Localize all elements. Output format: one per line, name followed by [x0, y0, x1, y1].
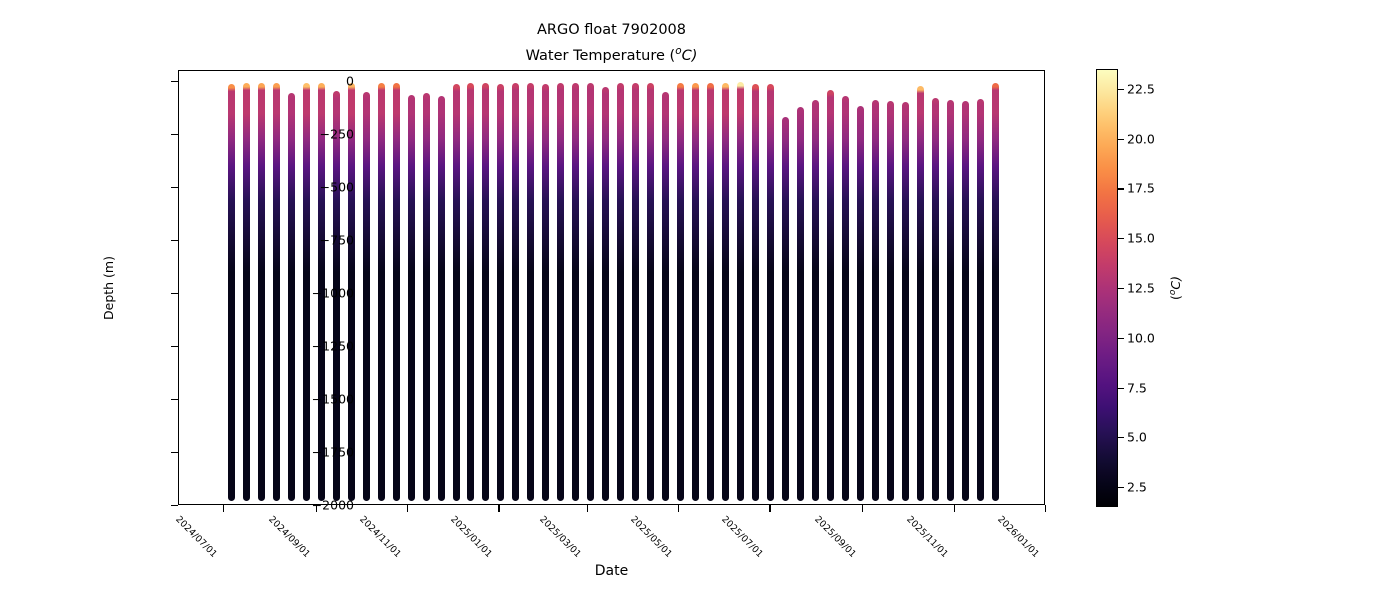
- x-tick-mark: [1045, 505, 1046, 512]
- y-tick-label: −1000: [312, 285, 354, 300]
- y-tick-mark: [171, 81, 178, 82]
- colorbar-tick-label: 15.0: [1127, 231, 1155, 246]
- x-tick-label: 2025/11/01: [904, 514, 950, 560]
- y-axis-label: Depth (m): [101, 168, 116, 408]
- temperature-profile: [842, 96, 849, 500]
- figure-title-line1: ARGO float 7902008: [178, 20, 1045, 41]
- temperature-profile: [587, 83, 594, 500]
- y-tick-label: −250: [320, 126, 354, 141]
- temperature-profile: [303, 83, 310, 501]
- colorbar-tick-label: 20.0: [1127, 131, 1155, 146]
- temperature-profile: [872, 100, 879, 500]
- y-tick-mark: [171, 346, 178, 347]
- temperature-profile: [992, 83, 999, 500]
- y-tick-label: −1250: [312, 338, 354, 353]
- colorbar-label: (oC): [1168, 208, 1183, 368]
- temperature-profile: [438, 96, 445, 500]
- temperature-profile: [363, 92, 370, 500]
- temperature-profile: [632, 83, 639, 500]
- temperature-profile: [752, 84, 759, 501]
- temperature-profile: [378, 83, 385, 500]
- x-tick-label: 2025/07/01: [720, 514, 766, 560]
- temperature-profile: [692, 83, 699, 501]
- colorbar-tick-mark: [1118, 288, 1124, 289]
- colorbar-label-prefix: (: [1168, 295, 1183, 300]
- colorbar-tick-label: 7.5: [1127, 380, 1147, 395]
- plot-area: [178, 70, 1045, 505]
- colorbar-tick-mark: [1118, 487, 1124, 488]
- temperature-profile: [423, 93, 430, 500]
- colorbar-tick-mark: [1118, 188, 1124, 189]
- temperature-profile: [467, 83, 474, 500]
- temperature-profile: [453, 84, 460, 501]
- y-tick-mark: [171, 134, 178, 135]
- y-tick-mark: [171, 240, 178, 241]
- colorbar-tick-mark: [1118, 139, 1124, 140]
- colorbar-tick-mark: [1118, 238, 1124, 239]
- temperature-profile: [767, 84, 774, 501]
- x-tick-mark: [862, 505, 863, 512]
- x-tick-label: 2025/01/01: [449, 514, 495, 560]
- x-tick-mark: [954, 505, 955, 512]
- temperature-profile: [602, 87, 609, 501]
- x-tick-mark: [223, 505, 224, 512]
- temperature-profile: [917, 86, 924, 500]
- temperature-profile: [827, 90, 834, 501]
- temperature-profile: [947, 100, 954, 501]
- x-tick-mark: [678, 505, 679, 512]
- y-tick-label: 0: [346, 73, 354, 88]
- temperature-profile: [677, 83, 684, 501]
- colorbar-tick-mark: [1118, 437, 1124, 438]
- x-tick-label: 2025/03/01: [537, 514, 583, 560]
- temperature-profile: [393, 83, 400, 501]
- temperature-profile: [288, 93, 295, 500]
- x-tick-mark: [769, 505, 770, 512]
- x-tick-label: 2025/05/01: [628, 514, 674, 560]
- temperature-profile: [512, 83, 519, 500]
- temperature-profile: [647, 83, 654, 501]
- temperature-profile: [527, 83, 534, 501]
- temperature-profile: [782, 117, 789, 501]
- colorbar-label-suffix: C): [1168, 276, 1183, 290]
- figure-canvas: ARGO float 7902008 Water Temperature (oC…: [0, 0, 1400, 600]
- temperature-profile: [497, 84, 504, 501]
- y-tick-label: −1500: [312, 391, 354, 406]
- x-tick-label: 2026/01/01: [995, 514, 1041, 560]
- x-tick-label: 2024/07/01: [173, 514, 219, 560]
- colorbar-tick-mark: [1118, 388, 1124, 389]
- x-tick-label: 2024/09/01: [266, 514, 312, 560]
- temperature-profile: [617, 83, 624, 501]
- colorbar-tick-label: 17.5: [1127, 181, 1155, 196]
- x-tick-mark: [587, 505, 588, 512]
- x-tick-mark: [407, 505, 408, 512]
- y-tick-mark: [171, 293, 178, 294]
- temperature-profile: [707, 83, 714, 501]
- colorbar-tick-label: 5.0: [1127, 430, 1147, 445]
- temperature-profile: [243, 83, 250, 501]
- colorbar-tick-mark: [1118, 89, 1124, 90]
- x-tick-mark: [498, 505, 499, 512]
- x-tick-mark: [316, 505, 317, 512]
- temperature-profile: [902, 102, 909, 501]
- x-tick-label: 2025/09/01: [813, 514, 859, 560]
- temperature-profile: [557, 83, 564, 500]
- temperature-profile: [542, 84, 549, 501]
- temperature-profile: [408, 95, 415, 501]
- temperature-profile: [662, 92, 669, 501]
- colorbar-tick-mark: [1118, 338, 1124, 339]
- colorbar-tick-label: 10.0: [1127, 330, 1155, 345]
- y-tick-mark: [171, 505, 178, 506]
- temperature-profile: [737, 82, 744, 500]
- y-tick-label: −500: [320, 179, 354, 194]
- y-tick-mark: [171, 452, 178, 453]
- temperature-profile: [932, 98, 939, 501]
- y-tick-label: −1750: [312, 444, 354, 459]
- y-tick-mark: [171, 187, 178, 188]
- temperature-profile: [797, 107, 804, 501]
- colorbar-tick-label: 2.5: [1127, 480, 1147, 495]
- title-prefix: Water Temperature (: [526, 48, 676, 64]
- temperature-profile: [482, 83, 489, 501]
- temperature-profile: [962, 101, 969, 501]
- y-tick-label: −2000: [312, 498, 354, 513]
- colorbar: [1096, 69, 1118, 507]
- x-tick-label: 2024/11/01: [357, 514, 403, 560]
- temperature-profile: [228, 84, 235, 501]
- y-tick-mark: [171, 399, 178, 400]
- temperature-profile: [572, 83, 579, 501]
- temperature-profile: [722, 83, 729, 501]
- x-axis-label: Date: [178, 563, 1045, 579]
- colorbar-tick-label: 22.5: [1127, 81, 1155, 96]
- figure-title-line2: Water Temperature (oC): [178, 41, 1045, 67]
- temperature-profile: [258, 83, 265, 500]
- temperature-profile: [273, 83, 280, 501]
- title-suffix: C): [682, 48, 698, 64]
- temperature-profile: [887, 101, 894, 501]
- temperature-profile: [977, 99, 984, 501]
- temperature-profile: [857, 106, 864, 501]
- colorbar-tick-label: 12.5: [1127, 281, 1155, 296]
- y-tick-label: −750: [320, 232, 354, 247]
- temperature-profile: [812, 100, 819, 501]
- colorbar-degree-symbol: o: [1168, 290, 1178, 296]
